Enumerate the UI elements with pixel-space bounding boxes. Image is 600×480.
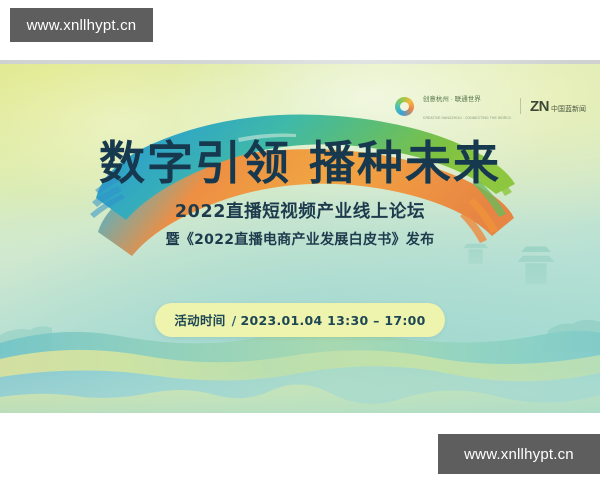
watermark-top-text: www.xnllhypt.cn — [27, 17, 137, 34]
broadcaster-logo-text-cn: 中国蓝新闻 — [551, 104, 586, 114]
headline-part-1: 数字引领 — [99, 136, 291, 190]
watermark-top: www.xnllhypt.cn — [10, 8, 153, 42]
broadcaster-logo: ZN 中国蓝新闻 — [530, 98, 586, 115]
event-poster-banner: 创意杭州 · 联通世界 CREATIVE HANGZHOU · CONNECTI… — [0, 60, 600, 413]
banner-top-divider — [0, 60, 600, 64]
time-badge-separator: / — [232, 313, 237, 328]
watermark-bottom: www.xnllhypt.cn — [438, 434, 600, 474]
time-badge-label: 活动时间 — [174, 313, 225, 328]
time-badge-wrapper: 活动时间/2023.01.04 13:30 – 17:00 — [0, 303, 600, 337]
time-badge-value: 2023.01.04 13:30 – 17:00 — [240, 313, 425, 328]
headline-part-2: 播种未来 — [309, 136, 501, 190]
circular-globe-logo-icon — [395, 97, 414, 116]
subtitle-primary: 2022直播短视频产业线上论坛 — [0, 198, 600, 223]
headline-block: 数字引领播种未来 2022直播短视频产业线上论坛 暨《2022直播电商产业发展白… — [0, 140, 600, 249]
subtitle-secondary: 暨《2022直播电商产业发展白皮书》发布 — [0, 229, 600, 249]
event-time-badge: 活动时间/2023.01.04 13:30 – 17:00 — [155, 303, 444, 337]
watermark-bottom-text: www.xnllhypt.cn — [464, 446, 574, 463]
partner-logo-text-cn: 创意杭州 · 联通世界 — [423, 96, 481, 103]
page-title: 数字引领播种未来 — [0, 140, 600, 187]
logo-divider — [520, 98, 521, 114]
broadcaster-logo-abbr: ZN — [530, 98, 549, 115]
